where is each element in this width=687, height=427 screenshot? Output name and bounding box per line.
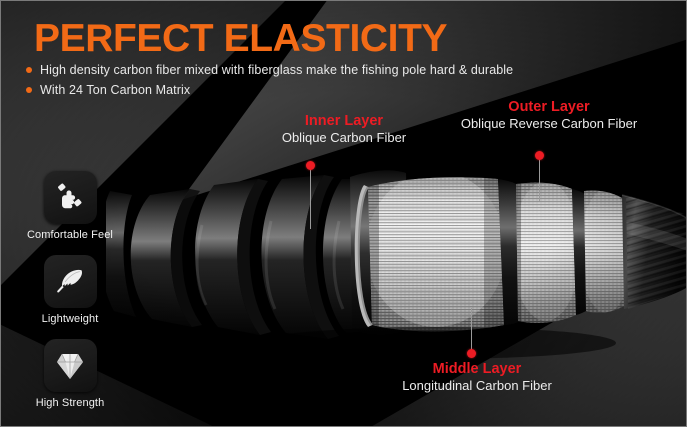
feature-label: High Strength	[36, 397, 105, 409]
bullet-dot-icon	[26, 67, 32, 73]
bullet-item: High density carbon fiber mixed with fib…	[26, 63, 513, 77]
infographic-canvas: PERFECT ELASTICITY High density carbon f…	[0, 0, 687, 427]
callout-middle-layer: Middle Layer Longitudinal Carbon Fiber	[359, 361, 595, 393]
feature-item-high-strength: High Strength	[18, 339, 122, 409]
page-title: PERFECT ELASTICITY	[34, 19, 447, 58]
callout-subtitle: Longitudinal Carbon Fiber	[359, 378, 595, 394]
feature-label: Lightweight	[42, 313, 99, 325]
bullet-item: With 24 Ton Carbon Matrix	[26, 83, 513, 97]
feature-label: Comfortable Feel	[27, 229, 113, 241]
bullet-text: High density carbon fiber mixed with fib…	[40, 63, 513, 77]
leader-dot-icon	[306, 161, 315, 170]
callout-inner-layer: Inner Layer Oblique Carbon Fiber	[249, 113, 439, 145]
feature-item-comfortable-feel: Comfortable Feel	[18, 171, 122, 241]
feature-tile	[44, 255, 97, 308]
callout-title: Inner Layer	[249, 113, 439, 130]
leader-line	[539, 157, 540, 201]
feature-icon-list: Comfortable Feel Lightweight	[18, 171, 122, 423]
bullet-text: With 24 Ton Carbon Matrix	[40, 83, 190, 97]
leader-dot-icon	[535, 151, 544, 160]
feature-tile	[44, 171, 97, 224]
feature-bullet-list: High density carbon fiber mixed with fib…	[26, 63, 513, 103]
callout-title: Middle Layer	[359, 361, 595, 378]
callout-title: Outer Layer	[426, 99, 672, 116]
leader-line	[471, 308, 472, 352]
bullet-dot-icon	[26, 87, 32, 93]
callout-subtitle: Oblique Reverse Carbon Fiber	[426, 116, 672, 132]
callout-subtitle: Oblique Carbon Fiber	[249, 130, 439, 146]
fist-grip-icon	[53, 181, 87, 215]
feature-item-lightweight: Lightweight	[18, 255, 122, 325]
feather-icon	[53, 265, 87, 299]
leader-line	[310, 167, 311, 229]
leader-dot-icon	[467, 349, 476, 358]
feature-tile	[44, 339, 97, 392]
callout-outer-layer: Outer Layer Oblique Reverse Carbon Fiber	[426, 99, 672, 131]
diamond-icon	[53, 349, 87, 383]
